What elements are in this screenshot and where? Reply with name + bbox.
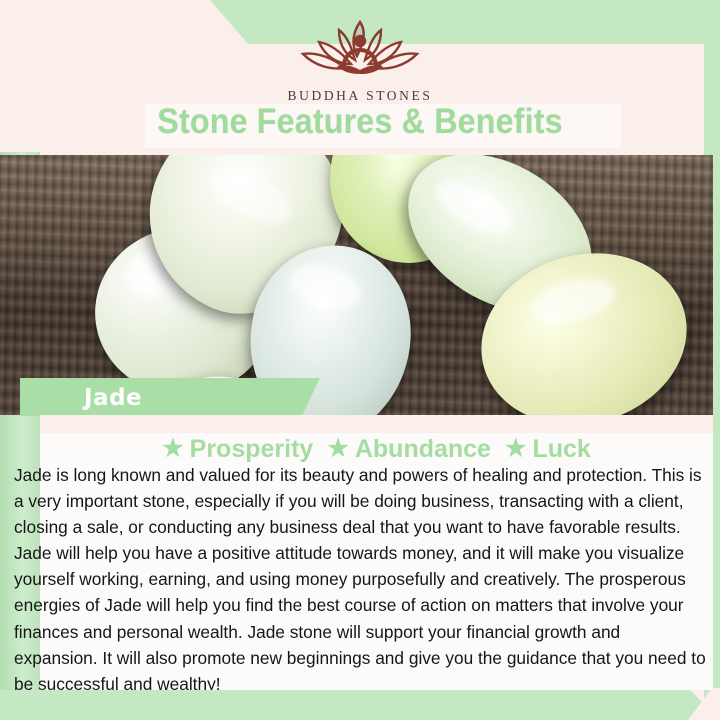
lotus-meditation-icon <box>285 14 435 86</box>
star-icon: ★ <box>327 437 349 461</box>
benefit-label: Luck <box>532 435 590 464</box>
stone-photo <box>0 155 713 415</box>
benefits-row: ★ Prosperity ★ Abundance ★ Luck <box>40 432 713 466</box>
benefit-item-prosperity: ★ Prosperity <box>162 435 313 464</box>
brand-logo: BUDDHA STONES <box>0 14 720 104</box>
page-title: Stone Features & Benefits <box>29 102 691 142</box>
benefit-label: Abundance <box>355 435 491 464</box>
bottom-green-accent <box>0 690 720 720</box>
star-icon: ★ <box>505 437 527 461</box>
benefit-label: Prosperity <box>190 435 314 464</box>
benefit-item-abundance: ★ Abundance <box>327 435 491 464</box>
star-icon: ★ <box>162 437 184 461</box>
benefit-item-luck: ★ Luck <box>505 435 591 464</box>
infographic-page: BUDDHA STONES Stone Features & Benefits … <box>0 0 720 720</box>
cream-spacer <box>40 415 713 433</box>
stone-label: Jade <box>84 385 142 411</box>
description-text: Jade is long known and valued for its be… <box>14 462 706 697</box>
stone-label-band <box>20 378 320 416</box>
